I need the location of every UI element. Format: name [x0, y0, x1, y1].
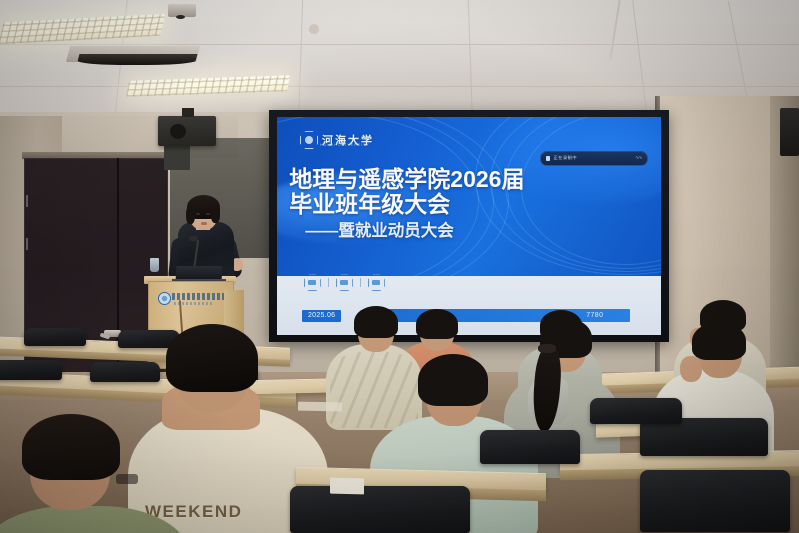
slide-badge-row — [304, 274, 385, 291]
person-hair — [692, 322, 746, 360]
door-hinge — [26, 195, 28, 207]
badge-icon-1 — [304, 274, 321, 291]
university-logo: 河海大学 HOHAI UNIVERSITY — [300, 131, 374, 149]
university-name-en: HOHAI UNIVERSITY — [320, 143, 370, 147]
presenter-hair-side — [186, 206, 195, 224]
badge-glyph — [308, 280, 316, 285]
paper-sheet — [330, 478, 364, 495]
presenter-eye — [196, 213, 200, 215]
shirt-pattern — [330, 352, 418, 428]
presenter-mouth — [201, 222, 207, 225]
chair — [24, 328, 86, 346]
hohai-crest-icon — [300, 131, 318, 149]
badge-divider — [328, 278, 329, 287]
badge-icon-2 — [336, 274, 353, 291]
speaker-cone — [170, 124, 186, 139]
hair-tie — [538, 344, 556, 353]
chair-back-right — [590, 398, 682, 424]
person-hair — [354, 306, 398, 338]
badge-glyph — [372, 280, 380, 285]
chair-mid-center — [480, 430, 580, 464]
chair — [90, 362, 160, 382]
slide-subtitle: ——暨就业动员大会 — [305, 221, 650, 241]
presentation-slide[interactable]: 河海大学 HOHAI UNIVERSITY 正在录制中 ∿∿ 地理与遥感学院20… — [277, 117, 661, 335]
badge-divider — [360, 278, 361, 287]
microphone-head — [189, 236, 198, 241]
wall-speaker-right — [780, 108, 799, 156]
glasses-arm — [116, 474, 138, 484]
person-hair — [22, 414, 120, 480]
badge-icon-3 — [368, 274, 385, 291]
air-vent-slot — [77, 54, 198, 65]
presenter-eye — [206, 213, 210, 215]
chair-front-center — [290, 486, 470, 533]
smoke-detector — [309, 24, 319, 34]
slide-number-text: 7780 — [586, 312, 603, 319]
speaker-mount — [182, 108, 194, 117]
classroom-photo: 河海大学 HOHAI UNIVERSITY 正在录制中 ∿∿ 地理与遥感学院20… — [0, 0, 799, 533]
slide-title-line2: 毕业班年级大会 — [289, 192, 650, 217]
chair — [0, 360, 62, 380]
person-hand — [680, 356, 702, 382]
slide-title-block: 地理与遥感学院2026届 毕业班年级大会 ——暨就业动员大会 — [289, 167, 650, 241]
presenter-hair-side — [211, 206, 220, 223]
chair-front-right — [640, 470, 790, 532]
person-hair — [418, 354, 488, 406]
wall-speaker-left — [158, 116, 216, 146]
water-glass — [150, 258, 159, 272]
recording-indicator-pill[interactable]: 正在录制中 ∿∿ — [540, 151, 648, 166]
crest-inner — [305, 136, 313, 144]
paper-sheet — [298, 402, 342, 412]
podium-crest-icon — [158, 292, 171, 305]
slide-date-badge: 2025.06 — [302, 310, 341, 322]
audio-wave-icon: ∿∿ — [635, 155, 641, 161]
slide-title-line1: 地理与遥感学院2026届 — [289, 167, 650, 192]
door-hinge — [26, 238, 28, 250]
recording-label: 正在录制中 — [554, 155, 577, 161]
person-hair — [166, 324, 258, 392]
badge-glyph — [340, 280, 348, 285]
person-hair — [416, 309, 458, 339]
podium-name-text — [172, 293, 224, 300]
laptop-screen[interactable] — [176, 266, 223, 280]
projector-lens — [176, 15, 185, 19]
record-dot-icon — [546, 156, 550, 161]
